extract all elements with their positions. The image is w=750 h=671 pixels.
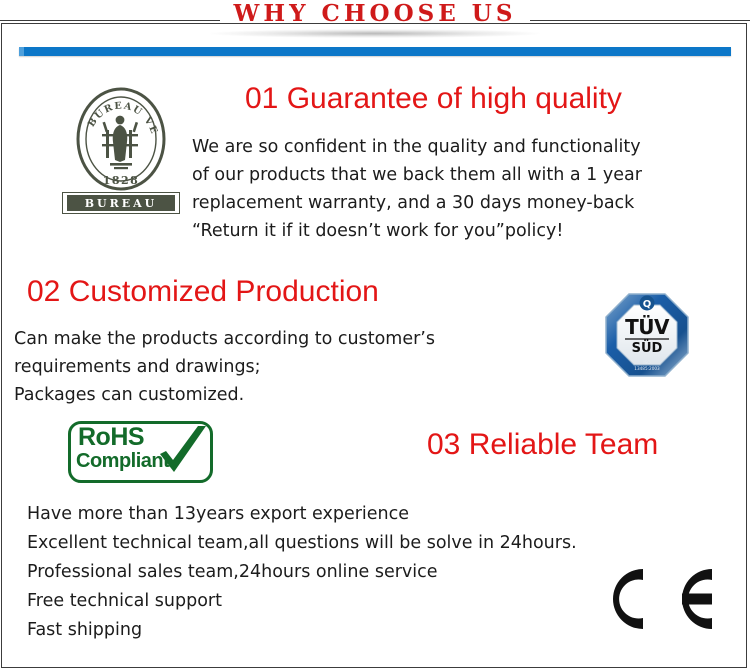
rohs-checkmark-icon (154, 424, 212, 482)
section-01-heading: 01 Guarantee of high quality (245, 84, 622, 114)
list-item: Have more than 13years export experience (27, 500, 577, 529)
list-item: Excellent technical team,all questions w… (27, 529, 577, 558)
tuv-iso-line2: 13485:2003 (634, 366, 660, 371)
tuv-q-letter: Q (643, 299, 652, 310)
svg-text:1828: 1828 (103, 174, 140, 187)
section-03-heading: 03 Reliable Team (427, 430, 658, 460)
ce-mark-icon (596, 563, 718, 635)
list-item: Free technical support (27, 587, 577, 616)
section-02-heading: 02 Customized Production (27, 277, 379, 307)
blue-divider-bar (19, 47, 731, 56)
bureau-veritas-logo: BUREAU VERITAS 1828 BUREAU (62, 86, 180, 214)
section-03-bullet-list: Have more than 13years export experience… (27, 500, 577, 645)
tuv-line2: SÜD (632, 340, 663, 356)
bureau-veritas-icon: BUREAU VERITAS 1828 (62, 86, 180, 192)
rohs-line1: RoHS (78, 423, 144, 452)
rohs-compliant-logo: RoHS Compliant (68, 421, 213, 483)
svg-text:BUREAU VERITAS: BUREAU VERITAS (62, 86, 160, 137)
blue-divider-bar-cap (19, 47, 24, 56)
list-item: Fast shipping (27, 616, 577, 645)
tuv-line1: TÜV (625, 315, 670, 339)
tuv-sud-logo: Q TÜV SÜD ISO 13485:2003 (604, 292, 690, 378)
tuv-sud-icon: Q TÜV SÜD ISO 13485:2003 (604, 292, 690, 378)
why-choose-us-page: WHY CHOOSE US WHY CHOOSE US BUREAU VERIT… (0, 0, 750, 671)
bureau-veritas-banner: BUREAU (62, 192, 180, 214)
tuv-iso-line1: ISO (643, 360, 651, 365)
bureau-veritas-banner-label: BUREAU (67, 195, 175, 211)
list-item: Professional sales team,24hours online s… (27, 558, 577, 587)
ce-mark-logo (596, 563, 718, 635)
section-01-body: We are so confident in the quality and f… (192, 133, 740, 245)
section-02-body: Can make the products according to custo… (14, 325, 584, 409)
page-title: WHY CHOOSE US (0, 2, 750, 25)
